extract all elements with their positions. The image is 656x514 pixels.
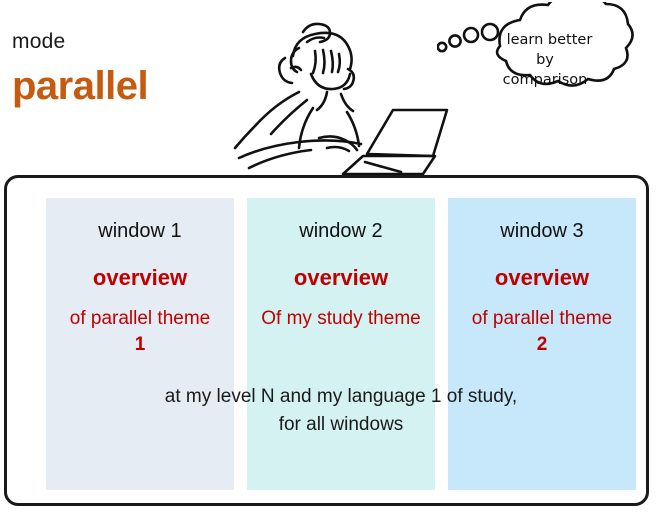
window-panel-3[interactable]: [448, 198, 636, 490]
mode-label: mode: [12, 30, 65, 54]
window-panels: [46, 198, 636, 490]
thought-bubble-text: I learn better by comparison: [460, 30, 630, 90]
caption-line-2: for all windows: [46, 411, 636, 439]
header: mode parallel: [0, 0, 656, 175]
bubble-line-1: I learn better: [460, 30, 630, 50]
bubble-line-2: by: [460, 50, 630, 70]
window-panel-2[interactable]: [247, 198, 435, 490]
caption-line-1: at my level N and my language 1 of study…: [46, 383, 636, 411]
window-panel-1[interactable]: [46, 198, 234, 490]
mode-value: parallel: [12, 64, 148, 109]
caption: at my level N and my language 1 of study…: [46, 383, 636, 439]
person-at-laptop-icon: [215, 0, 455, 176]
bubble-line-3: comparison: [460, 70, 630, 90]
